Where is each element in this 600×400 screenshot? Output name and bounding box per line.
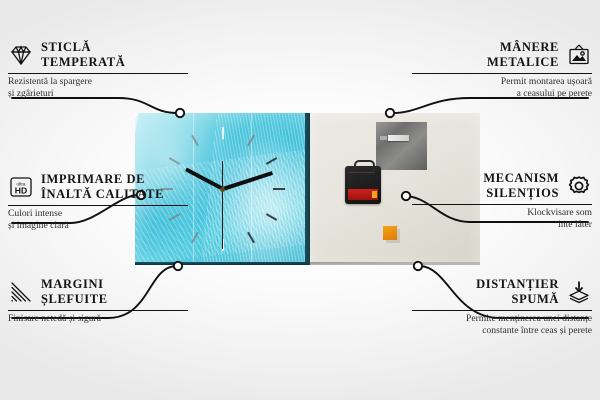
gear-icon (566, 174, 592, 198)
callout-head: MÂNERE METALICE (412, 40, 592, 70)
product-shadow (140, 262, 480, 271)
callout-title: MECANISM SILENȚIOS (483, 171, 559, 201)
callout-title: MARGINI ȘLEFUITE (41, 277, 108, 307)
callout-title: DISTANȚIER SPUMĂ (476, 277, 559, 307)
callout-rule (8, 73, 188, 75)
foam-spacer (383, 226, 397, 240)
callout-head: STICLĂ TEMPERATĂ (8, 40, 188, 70)
callout-subtitle: Rezistentă la spargere și zgârieturi (8, 76, 188, 101)
callout-rule (8, 310, 188, 312)
feature-callout-imprimare-calitate: ultra HD IMPRIMARE DE ÎNALTĂ CALITATE Cu… (8, 172, 188, 233)
mechanism-hook (354, 160, 375, 171)
feature-callout-sticla-temperata: STICLĂ TEMPERATĂ Rezistentă la spargere … (8, 40, 188, 101)
metal-hanger-plate (376, 122, 427, 170)
callout-head: DISTANȚIER SPUMĂ (412, 277, 592, 307)
mechanism-detail (349, 172, 375, 173)
callout-subtitle: Culori intense și imagine clară (8, 208, 188, 233)
callout-title: MÂNERE METALICE (487, 40, 559, 70)
second-hand-tail (222, 161, 224, 189)
battery (348, 189, 378, 200)
hanging-frame-icon (566, 43, 592, 67)
feature-callout-margini-slefuite: MARGINI ȘLEFUITE Finisare netedă și sigu… (8, 277, 188, 325)
hands-pin (220, 187, 225, 192)
callout-title: STICLĂ TEMPERATĂ (41, 40, 125, 70)
second-hand (222, 189, 224, 249)
callout-rule (8, 205, 188, 207)
foam-spacer-icon (566, 280, 592, 304)
callout-head: MARGINI ȘLEFUITE (8, 277, 188, 307)
infographic-stage: STICLĂ TEMPERATĂ Rezistentă la spargere … (0, 0, 600, 400)
hanger-slot (388, 135, 409, 141)
callout-head: ultra HD IMPRIMARE DE ÎNALTĂ CALITATE (8, 172, 188, 202)
callout-rule (412, 204, 592, 206)
callout-subtitle: Finisare netedă și sigură (8, 313, 188, 325)
callout-subtitle: Permite menținerea unei distanțe constan… (412, 313, 592, 338)
svg-text:HD: HD (15, 185, 27, 195)
quartz-mechanism (345, 166, 381, 204)
hour-hand (184, 168, 223, 191)
callout-rule (412, 310, 592, 312)
callout-rule (412, 73, 592, 75)
callout-title: IMPRIMARE DE ÎNALTĂ CALITATE (41, 172, 164, 202)
minute-hand (222, 171, 273, 191)
callout-subtitle: Permit montarea ușoară a ceasului pe per… (412, 76, 592, 101)
polished-edge-icon (8, 280, 34, 304)
ultra-hd-icon: ultra HD (8, 175, 34, 199)
feature-callout-mecanism-silentios: MECANISM SILENȚIOS Klockvisare som inte … (412, 171, 592, 232)
diamond-icon (8, 43, 34, 67)
callout-subtitle: Klockvisare som inte låter (412, 207, 592, 232)
feature-callout-distantier-spuma: DISTANȚIER SPUMĂ Permite menținerea unei… (412, 277, 592, 338)
callout-head: MECANISM SILENȚIOS (412, 171, 592, 201)
feature-callout-manere-metalice: MÂNERE METALICE Permit montarea ușoară a… (412, 40, 592, 101)
